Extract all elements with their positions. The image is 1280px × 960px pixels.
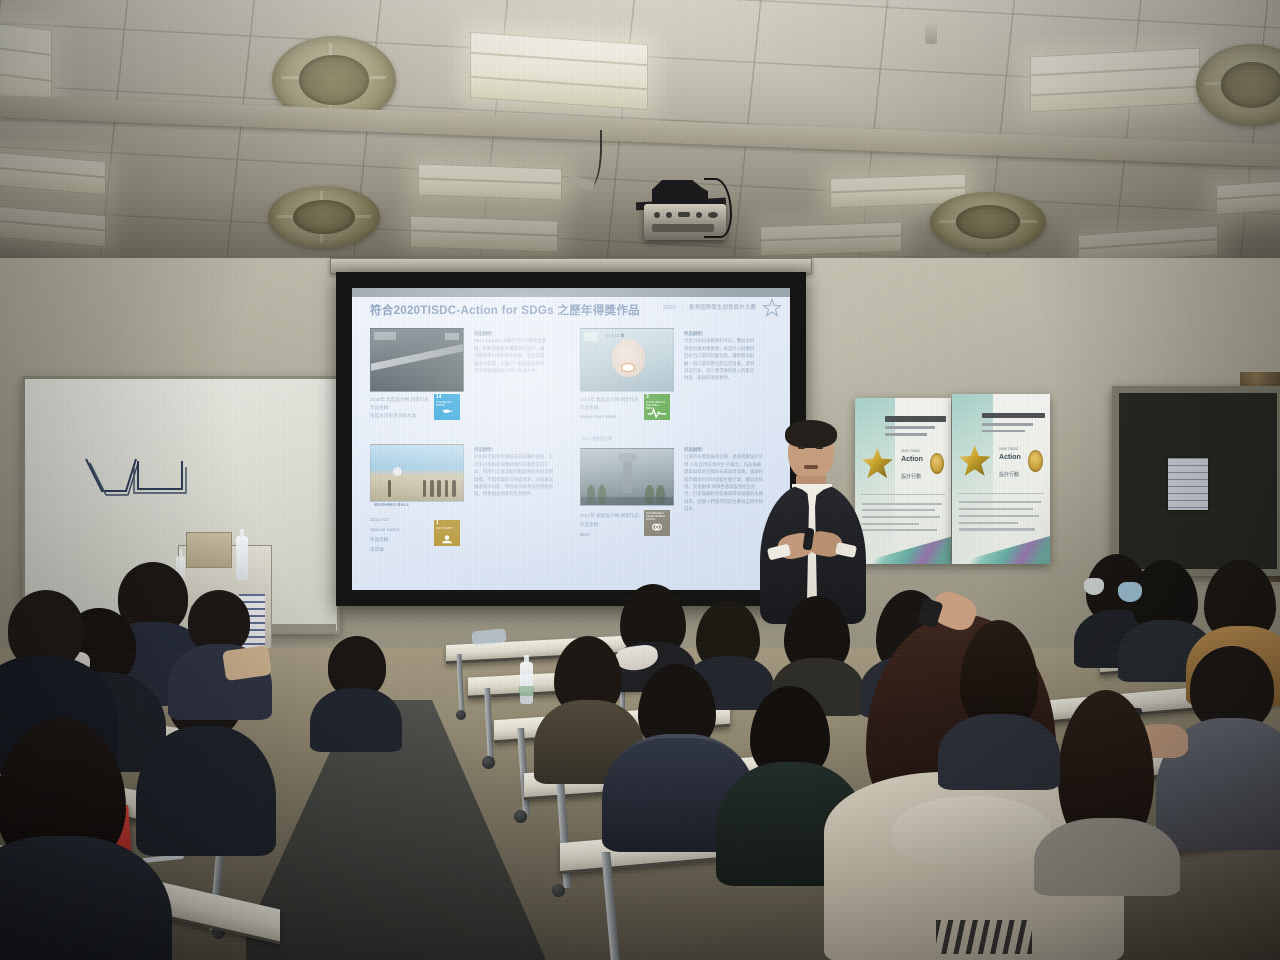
poster-header-bar	[885, 416, 946, 421]
hoodie-graphic	[936, 920, 1032, 954]
bottle-label	[519, 686, 534, 696]
desk-caster	[482, 756, 495, 769]
audience-member	[948, 620, 1048, 770]
water-bottle	[520, 662, 533, 704]
presenter-eye	[816, 446, 823, 449]
audience-member	[176, 590, 262, 708]
posted-notice-sheet	[1168, 458, 1208, 510]
ceiling-projector	[632, 180, 730, 246]
gold-star-logo-icon	[958, 438, 991, 482]
desk-caster	[552, 884, 565, 897]
audience-member	[318, 636, 392, 728]
lecture-hall-photo: 符合2020TISDC-Action for SDGs 之歷年得獎作品 2020…	[0, 0, 1280, 960]
face-mask	[1084, 578, 1104, 595]
whiteboard-drawing	[82, 455, 192, 497]
gold-seal-icon	[930, 453, 944, 475]
projected-slide: 符合2020TISDC-Action for SDGs 之歷年得獎作品 2020…	[352, 288, 790, 590]
desk-caster	[514, 810, 527, 823]
projector-cable	[704, 178, 732, 238]
poster-campaign-cn: 設計行動	[901, 473, 921, 480]
poster-campaign-small: 2020 TISDC	[999, 447, 1018, 451]
poster-right: 2020 TISDC Action 設計行動	[952, 394, 1050, 564]
audience-member-foreground	[0, 718, 156, 960]
face-mask	[1118, 582, 1142, 602]
presenter	[752, 424, 876, 624]
slide-projection-glow	[352, 288, 790, 590]
presenter-mouth	[804, 465, 818, 469]
presenter-hair	[785, 420, 837, 448]
hood	[892, 796, 1052, 866]
audience-member	[1044, 690, 1164, 880]
gold-seal-icon	[1028, 450, 1043, 472]
poster-campaign-cn: 設計行動	[999, 471, 1019, 478]
poster-campaign-small: 2020 TISDC	[901, 449, 920, 453]
poster-campaign-title: Action	[999, 454, 1021, 462]
desk-caster	[456, 710, 466, 720]
water-bottle	[236, 536, 248, 580]
poster-header-bar	[982, 413, 1045, 418]
poster-campaign-title: Action	[901, 456, 923, 464]
presenter-eye	[798, 446, 805, 449]
shoulder-bag	[222, 645, 272, 681]
